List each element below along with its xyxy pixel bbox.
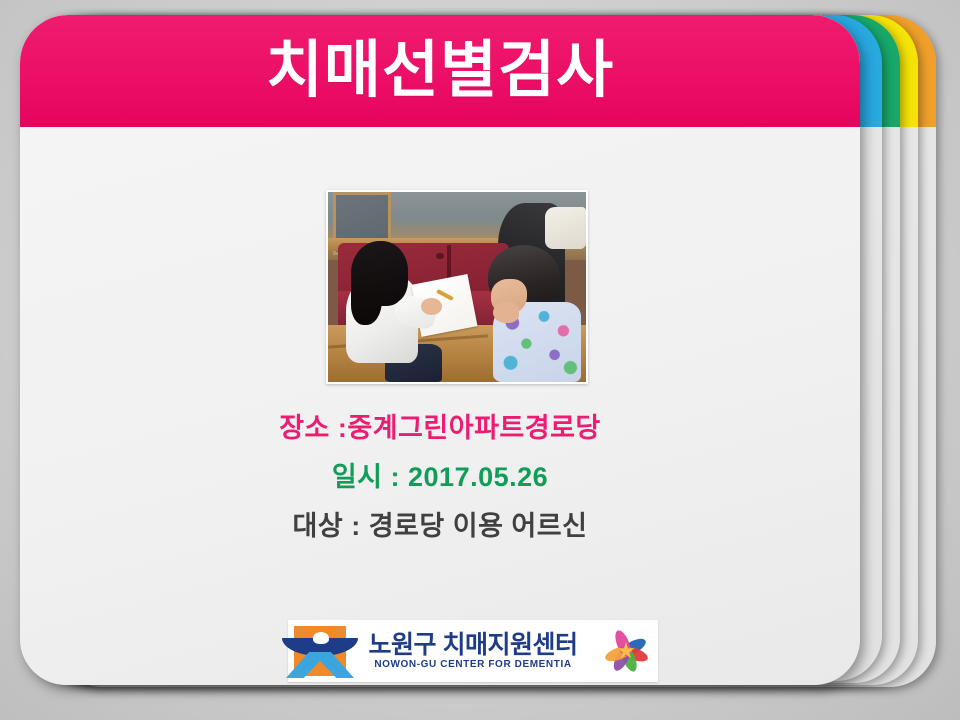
photo-elder-hand bbox=[493, 302, 519, 323]
event-details: 장소 :중계그린아파트경로당 일시 : 2017.05.26 대상 : 경로당 … bbox=[20, 415, 860, 540]
organization-logo: 노원구 치매지원센터 NOWON-GU CENTER FOR DEMENTIA bbox=[288, 620, 658, 682]
photo-staff-hair-strand bbox=[351, 276, 382, 325]
event-place: 장소 :중계그린아파트경로당 bbox=[20, 415, 860, 442]
presentation-slide: 치매선별검사 bbox=[0, 0, 960, 720]
person-legs-shape bbox=[286, 652, 354, 678]
pinwheel-star-icon bbox=[600, 628, 652, 674]
person-figure-icon bbox=[294, 626, 346, 676]
photo-staff-hand bbox=[421, 298, 442, 315]
event-date: 일시 : 2017.05.26 bbox=[20, 464, 860, 491]
person-head-shape bbox=[313, 632, 329, 644]
photo-white-towel bbox=[545, 207, 586, 249]
card-body: 장소 :중계그린아파트경로당 일시 : 2017.05.26 대상 : 경로당 … bbox=[20, 127, 860, 685]
event-target: 대상 : 경로당 이용 어르신 bbox=[20, 513, 860, 540]
activity-photo-image bbox=[328, 192, 586, 382]
organization-name-english: NOWON-GU CENTER FOR DEMENTIA bbox=[352, 659, 594, 670]
page-title: 치매선별검사 bbox=[266, 40, 614, 102]
organization-name-korean: 노원구 치매지원센터 bbox=[352, 632, 594, 658]
card-header: 치매선별검사 bbox=[20, 15, 860, 127]
main-card: 치매선별검사 bbox=[20, 15, 860, 685]
activity-photo bbox=[326, 190, 588, 384]
organization-name: 노원구 치매지원센터 NOWON-GU CENTER FOR DEMENTIA bbox=[346, 632, 600, 670]
